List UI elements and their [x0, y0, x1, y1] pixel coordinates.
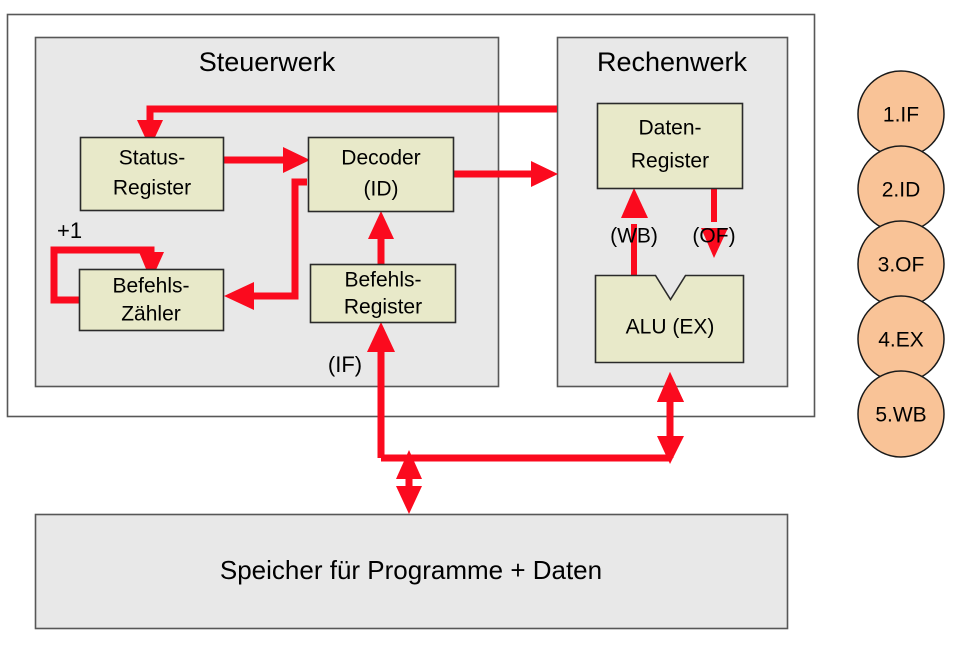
data-register-label-line1: Daten- [638, 117, 701, 140]
stage-circle-3[interactable]: 3.OF [858, 221, 944, 307]
unit-decoder: Decoder (ID) [309, 138, 454, 212]
arrowhead-bus-up [396, 450, 422, 479]
control-unit-title: Steuerwerk [199, 47, 336, 77]
stage-circle-4[interactable]: 4.EX [858, 296, 944, 382]
operand-fetch-label: (OF) [692, 225, 735, 248]
alu-label: ALU (EX) [626, 316, 715, 339]
unit-status-register: Status- Register [81, 138, 224, 211]
instruction-register-label-line1: Befehls- [344, 269, 421, 292]
decoder-label-line2: (ID) [364, 178, 399, 201]
status-register-label-line2: Register [113, 177, 191, 200]
memory-label: Speicher für Programme + Daten [220, 555, 602, 585]
program-counter-label-line1: Befehls- [112, 275, 189, 298]
instruction-register-label-line2: Register [344, 296, 422, 319]
increment-label: +1 [57, 218, 82, 243]
stage-circle-1-label: 1.IF [883, 104, 919, 127]
arrowhead-bus-down [396, 486, 422, 514]
stage-circle-3-label: 3.OF [878, 254, 925, 277]
unit-data-register: Daten- Register [598, 104, 743, 189]
unit-program-counter: Befehls- Zähler [80, 270, 224, 331]
stage-circle-2-label: 2.ID [882, 179, 921, 202]
cpu-block-diagram: Steuerwerk Rechenwerk Speicher für Progr… [0, 0, 959, 649]
pipeline-stage-list: 1.IF 2.ID 3.OF 4.EX 5.WB [858, 71, 944, 457]
arithmetic-unit-title: Rechenwerk [597, 47, 748, 77]
stage-circle-2[interactable]: 2.ID [858, 146, 944, 232]
status-register-label-line1: Status- [119, 147, 186, 170]
stage-circle-5-label: 5.WB [875, 404, 926, 427]
instruction-fetch-label: (IF) [328, 352, 362, 377]
write-back-label: (WB) [610, 225, 658, 248]
cpu-diagram-canvas: Steuerwerk Rechenwerk Speicher für Progr… [0, 0, 959, 649]
data-register-label-line2: Register [631, 150, 709, 173]
unit-instruction-register: Befehls- Register [311, 265, 456, 323]
decoder-label-line1: Decoder [341, 147, 420, 170]
stage-circle-5[interactable]: 5.WB [858, 371, 944, 457]
program-counter-label-line2: Zähler [121, 303, 181, 326]
stage-circle-1[interactable]: 1.IF [858, 71, 944, 157]
stage-circle-4-label: 4.EX [878, 329, 924, 352]
